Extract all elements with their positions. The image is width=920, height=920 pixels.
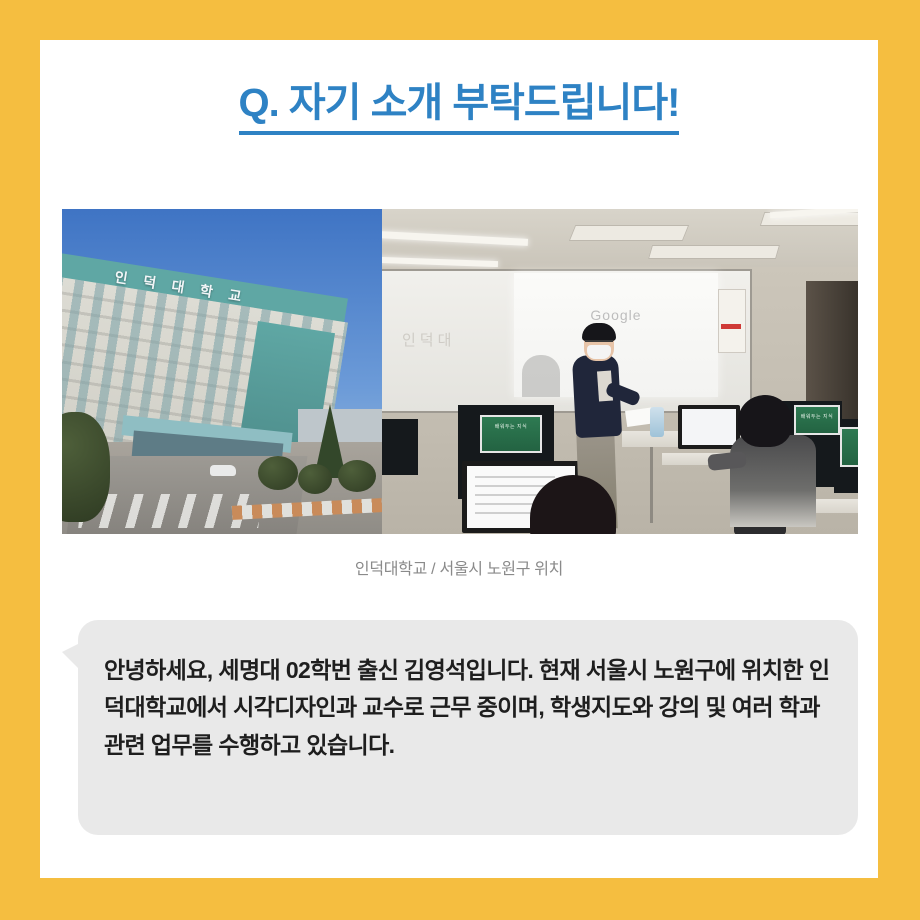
presenter-face-mask xyxy=(587,345,611,359)
student-head xyxy=(738,395,792,447)
student-body xyxy=(730,435,816,527)
monitor-rear xyxy=(382,419,418,475)
page-title-wrapper: Q. 자기 소개 부탁드립니다! xyxy=(40,78,878,135)
photo-campus-building: 인 덕 대 학 교 xyxy=(62,209,382,534)
ceiling-panel xyxy=(569,225,689,241)
shrub xyxy=(258,456,298,490)
wall-notice xyxy=(718,289,746,353)
photo-strip: 인 덕 대 학 교 xyxy=(62,209,858,534)
content-card: Q. 자기 소개 부탁드립니다! 인 덕 대 학 교 xyxy=(40,40,878,878)
monitor-green-sign xyxy=(840,427,858,467)
projected-logo-text: Google xyxy=(514,307,718,323)
presenter-shadow xyxy=(522,355,560,397)
presenter-hair xyxy=(582,323,616,341)
ceiling-panel xyxy=(648,245,780,259)
monitor-green-sign: 배워두는 지식 xyxy=(480,415,542,453)
answer-speech-bubble: 안녕하세요, 세명대 02학번 출신 김영석입니다. 현재 서울시 노원구에 위… xyxy=(78,620,858,835)
photo-caption: 인덕대학교 / 서울시 노원구 위치 xyxy=(40,555,878,579)
monitor-screen xyxy=(682,409,736,445)
parked-car xyxy=(210,465,236,476)
photo-classroom-lecture: 인덕대 Google 배워두는 지식 배워두는 지식 xyxy=(382,209,858,534)
yellow-frame: Q. 자기 소개 부탁드립니다! 인 덕 대 학 교 xyxy=(0,0,920,920)
monitor-green-sign: 배워두는 지식 xyxy=(794,405,840,435)
whiteboard-text: 인덕대 xyxy=(402,329,455,350)
page-title: Q. 자기 소개 부탁드립니다! xyxy=(239,78,680,135)
shrub xyxy=(298,464,332,494)
desk-leg xyxy=(650,447,653,523)
student-monitor xyxy=(678,405,740,449)
shrub xyxy=(338,460,376,492)
water-bottle xyxy=(650,407,664,437)
answer-text: 안녕하세요, 세명대 02학번 출신 김영석입니다. 현재 서울시 노원구에 위… xyxy=(104,652,832,764)
